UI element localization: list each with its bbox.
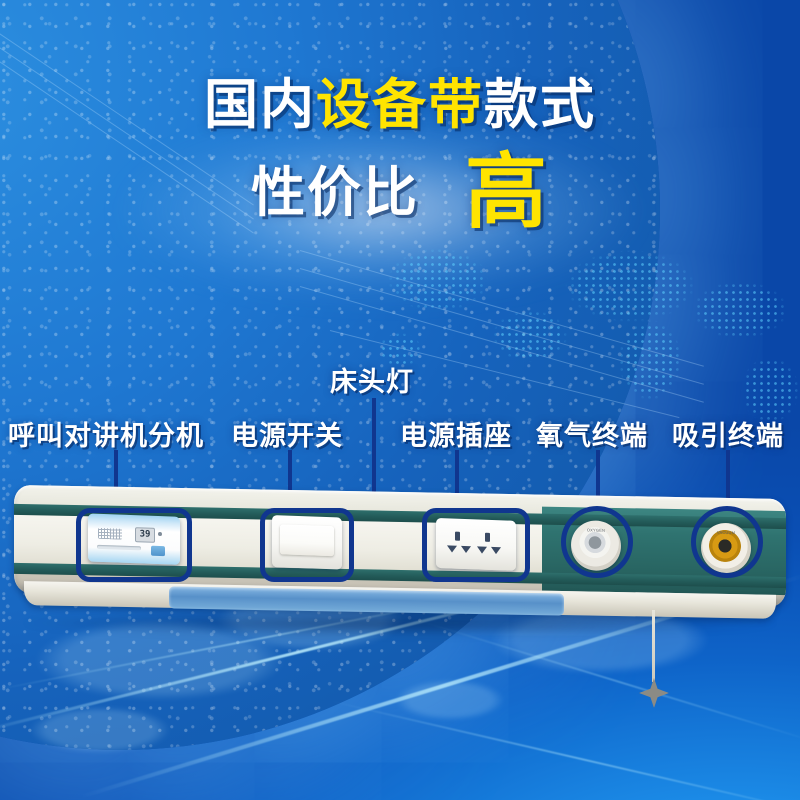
highlight-box-nurse-call-intercom [76,508,192,582]
callout-label-power-socket: 电源插座 [400,414,512,453]
headline-seg-domestic: 国内 [204,75,316,135]
headline-value-for-money: 性价比 [251,166,419,220]
bed-head-unit-panel: 39 OXYGEN VACU [14,492,786,632]
callout-label-nurse-call-intercom: 呼叫对讲机分机 [8,414,204,453]
highlight-box-power-socket [422,508,530,582]
highlight-circle-oxygen-terminal [561,506,633,578]
highlight-circle-suction-terminal [691,506,763,578]
headline-seg-style: 款式 [484,75,596,135]
headline-line-1: 国内设备带款式 [0,78,800,132]
callout-label-oxygen-terminal: 氧气终端 [536,414,648,453]
headline-block: 国内设备带款式 性价比 高 [0,78,800,232]
highlight-box-power-switch [260,508,354,582]
callout-label-suction-terminal: 吸引终端 [672,414,784,453]
callout-label-bed-lamp: 床头灯 [330,360,414,399]
headline-high: 高 [465,154,549,232]
banner-stage: 国内设备带款式 性价比 高 呼叫对讲机分机 床头灯 电源开关 电源插座 氧气终端… [0,0,800,800]
headline-line-2: 性价比 高 [0,154,800,232]
callout-label-power-switch: 电源开关 [231,414,343,453]
pull-cord-string[interactable] [652,610,655,682]
headline-seg-equipment-belt: 设备带 [316,75,484,135]
